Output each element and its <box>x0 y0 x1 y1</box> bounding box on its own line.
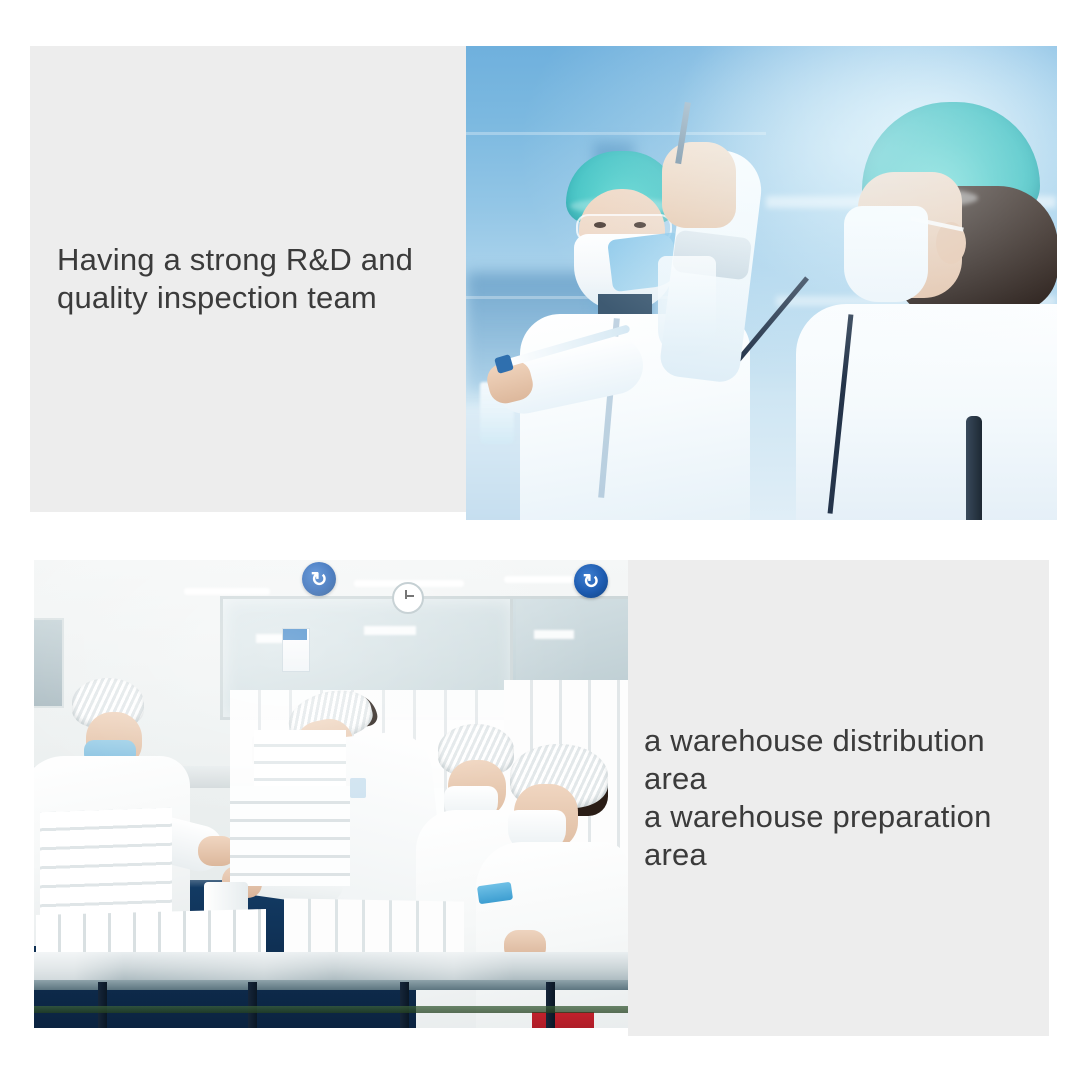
lab-light-haze <box>466 46 1057 520</box>
rd-caption-panel: Having a strong R&D and quality inspecti… <box>30 46 470 512</box>
lab-quality-inspection-photo <box>466 46 1057 520</box>
warehouse-packing-photo: ↻ ↻ <box>34 560 628 1028</box>
warehouse-caption-panel: a warehouse distribution area a warehous… <box>628 560 1049 1036</box>
warehouse-light-wash <box>34 560 628 1028</box>
rd-caption-text: Having a strong R&D and quality inspecti… <box>30 241 413 317</box>
warehouse-caption-text: a warehouse distribution area a warehous… <box>628 722 1049 873</box>
